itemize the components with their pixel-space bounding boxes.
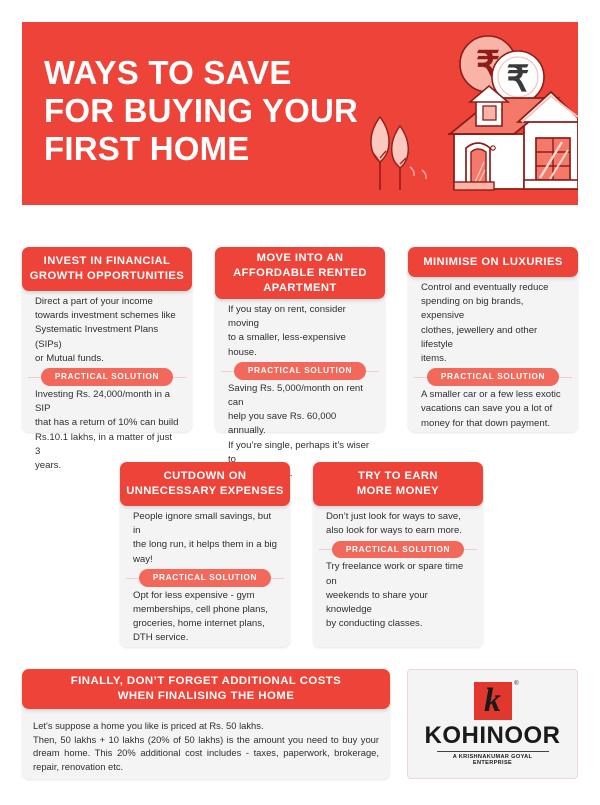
card-final-body-text: Let's suppose a home you like is priced … <box>22 713 390 773</box>
card-solution-text: A smaller car or a few less exotic vacat… <box>408 388 578 431</box>
card-problem-text: People ignore small savings, but in the … <box>120 510 290 567</box>
kohinoor-k-mark-icon: k ® <box>474 682 512 720</box>
card-solution-text: Opt for less expensive - gym memberships… <box>120 589 290 646</box>
logo-tagline: A KRISHNAKUMAR GOYAL ENTERPRISE <box>437 754 549 766</box>
card-try-to-earn-more-money: TRY TO EARN MORE MONEY Don’t just look f… <box>313 462 483 647</box>
infographic-page: WAYS TO SAVE FOR BUYING YOUR FIRST HOME <box>0 0 600 805</box>
card-solution-text: Investing Rs. 24,000/month in a SIP that… <box>22 388 192 473</box>
card-body: Let's suppose a home you like is priced … <box>22 713 390 773</box>
card-cutdown-unnecessary-expenses: CUTDOWN ON UNNECESSARY EXPENSES People i… <box>120 462 290 647</box>
card-problem-text: Direct a part of your income towards inv… <box>22 295 192 366</box>
practical-solution-divider: PRACTICAL SOLUTION <box>313 538 483 560</box>
logo-wordmark: KOHINOOR <box>425 723 561 749</box>
card-title: FINALLY, DON’T FORGET ADDITIONAL COSTS W… <box>22 669 390 709</box>
card-problem-text: If you stay on rent, consider moving to … <box>215 303 385 360</box>
card-title: MOVE INTO AN AFFORDABLE RENTED APARTMENT <box>215 247 385 299</box>
card-problem-text: Control and eventually reduce spending o… <box>408 281 578 366</box>
practical-solution-badge: PRACTICAL SOLUTION <box>332 541 464 559</box>
card-affordable-rented-apartment: MOVE INTO AN AFFORDABLE RENTED APARTMENT… <box>215 247 385 432</box>
logo-tagline-wrap: A KRISHNAKUMAR GOYAL ENTERPRISE <box>437 751 549 766</box>
kohinoor-logo: k ® KOHINOOR A KRISHNAKUMAR GOYAL ENTERP… <box>407 669 578 779</box>
card-body: If you stay on rent, consider moving to … <box>215 303 385 481</box>
practical-solution-divider: PRACTICAL SOLUTION <box>22 366 192 388</box>
practical-solution-badge: PRACTICAL SOLUTION <box>427 368 559 386</box>
logo-letter-k: k <box>474 682 512 720</box>
tree-icon <box>371 117 389 190</box>
card-body: Don’t just look for ways to save, also l… <box>313 510 483 631</box>
page-title: WAYS TO SAVE FOR BUYING YOUR FIRST HOME <box>44 54 404 168</box>
practical-solution-divider: PRACTICAL SOLUTION <box>215 360 385 382</box>
card-body: Direct a part of your income towards inv… <box>22 295 192 473</box>
registered-trademark-icon: ® <box>514 681 518 687</box>
card-title: INVEST IN FINANCIAL GROWTH OPPORTUNITIES <box>22 247 192 291</box>
card-solution-text: Try freelance work or spare time on week… <box>313 560 483 631</box>
card-minimise-on-luxuries: MINIMISE ON LUXURIES Control and eventua… <box>408 247 578 432</box>
card-body: Control and eventually reduce spending o… <box>408 281 578 431</box>
card-title: TRY TO EARN MORE MONEY <box>313 462 483 506</box>
practical-solution-badge: PRACTICAL SOLUTION <box>139 569 271 587</box>
practical-solution-badge: PRACTICAL SOLUTION <box>41 368 173 386</box>
card-problem-text: Don’t just look for ways to save, also l… <box>313 510 483 538</box>
practical-solution-divider: PRACTICAL SOLUTION <box>120 567 290 589</box>
card-title: MINIMISE ON LUXURIES <box>408 247 578 277</box>
card-body: People ignore small savings, but in the … <box>120 510 290 646</box>
header-banner: WAYS TO SAVE FOR BUYING YOUR FIRST HOME <box>22 22 578 205</box>
card-invest-financial-growth: INVEST IN FINANCIAL GROWTH OPPORTUNITIES… <box>22 247 192 432</box>
practical-solution-divider: PRACTICAL SOLUTION <box>408 366 578 388</box>
svg-text:₹: ₹ <box>507 58 530 99</box>
practical-solution-badge: PRACTICAL SOLUTION <box>234 362 366 380</box>
card-additional-costs: FINALLY, DON’T FORGET ADDITIONAL COSTS W… <box>22 669 390 779</box>
card-title: CUTDOWN ON UNNECESSARY EXPENSES <box>120 462 290 506</box>
tree-icon <box>392 126 409 190</box>
house-with-rupee-coins-icon: ₹ ₹ <box>366 22 578 205</box>
